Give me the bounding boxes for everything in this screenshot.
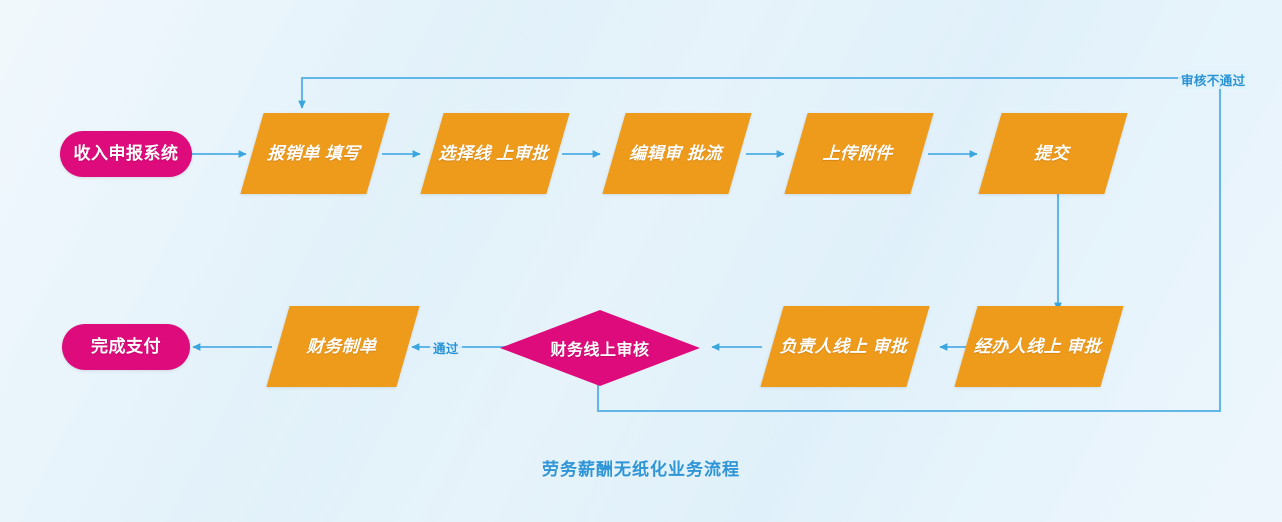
flowchart-canvas: 收入申报系统 报销单 填写 选择线 上审批 编辑审 批流 上传附件 提交 经办人… — [0, 0, 1282, 522]
node-upload-attachment: 上传附件 — [784, 113, 933, 194]
node-payment-done: 完成支付 — [62, 324, 190, 370]
node-upload-attachment-line1: 上传附件 — [821, 144, 896, 163]
diamond-shape — [500, 310, 700, 386]
node-submit-line1: 提交 — [1033, 144, 1073, 163]
node-manager-online-approval-line2: 审批 — [871, 337, 911, 356]
node-manager-online-approval-line1: 负责人线上 — [779, 337, 872, 356]
node-fill-form: 报销单 填写 — [240, 113, 389, 194]
edge-label-approved: 通过 — [430, 338, 462, 357]
node-start: 收入申报系统 — [60, 131, 192, 177]
node-fill-form-line1: 报销单 — [266, 144, 324, 163]
node-choose-online-approval: 选择线 上审批 — [420, 113, 569, 194]
node-choose-online-approval-line2: 上审批 — [495, 144, 553, 163]
node-fill-form-line2: 填写 — [324, 144, 364, 163]
node-start-label: 收入申报系统 — [74, 143, 179, 165]
node-submit: 提交 — [978, 113, 1127, 194]
node-payment-done-label: 完成支付 — [91, 336, 161, 358]
node-choose-online-approval-line1: 选择线 — [437, 144, 495, 163]
node-manager-online-approval: 负责人线上 审批 — [760, 306, 929, 387]
node-finance-online-review: 财务线上审核 — [500, 310, 700, 386]
node-finance-voucher: 财务制单 — [266, 306, 419, 387]
node-edit-approval-flow: 编辑审 批流 — [602, 113, 751, 194]
edge-label-rejected: 审核不通过 — [1178, 70, 1249, 89]
diagram-caption: 劳务薪酬无纸化业务流程 — [0, 455, 1282, 480]
node-edit-approval-flow-line1: 编辑审 — [628, 144, 686, 163]
node-handler-online-approval-line1: 经办人线上 — [973, 337, 1066, 356]
node-finance-voucher-line1: 财务制单 — [305, 337, 380, 356]
node-handler-online-approval-line2: 审批 — [1065, 337, 1105, 356]
connector-layer — [0, 0, 1282, 522]
node-handler-online-approval: 经办人线上 审批 — [954, 306, 1123, 387]
node-edit-approval-flow-line2: 批流 — [686, 144, 726, 163]
